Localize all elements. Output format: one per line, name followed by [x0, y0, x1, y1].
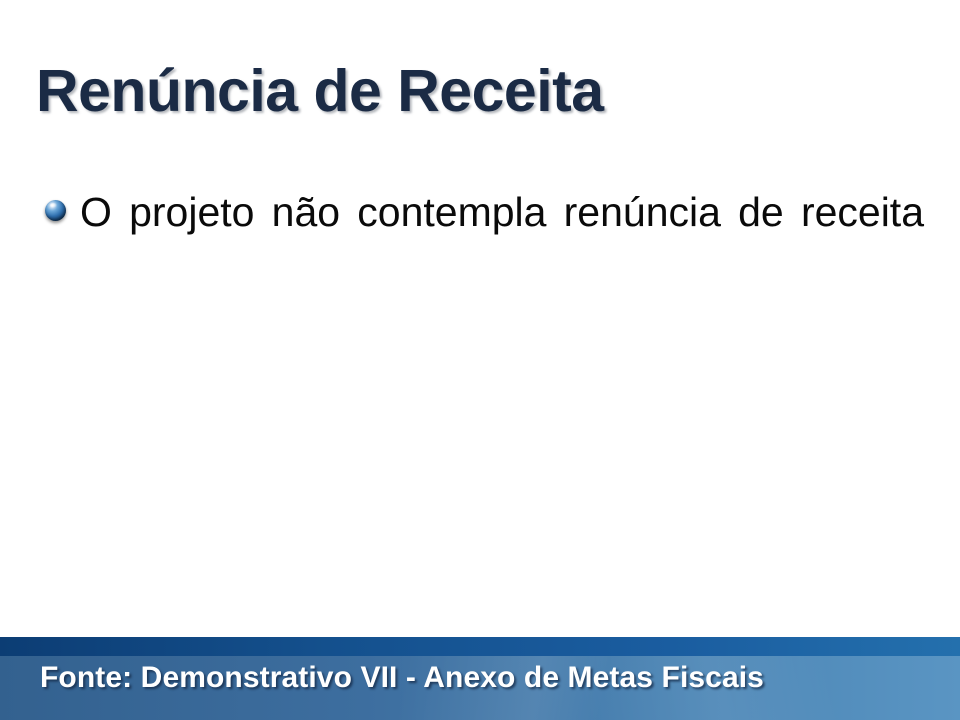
bullet-text: O projeto não contempla renúncia de rece…: [80, 187, 924, 287]
footer-accent-strip: [0, 637, 960, 656]
list-item: O projeto não contempla renúncia de rece…: [40, 187, 924, 287]
slide-body: O projeto não contempla renúncia de rece…: [40, 146, 924, 328]
sphere-bullet-icon: [45, 200, 66, 221]
footer-band: Fonte: Demonstrativo VII - Anexo de Meta…: [0, 637, 960, 720]
presentation-slide: Renúncia de Receita O projeto não contem…: [0, 0, 960, 720]
footer-source-text: Fonte: Demonstrativo VII - Anexo de Meta…: [40, 661, 764, 695]
page-title: Renúncia de Receita: [36, 58, 926, 126]
